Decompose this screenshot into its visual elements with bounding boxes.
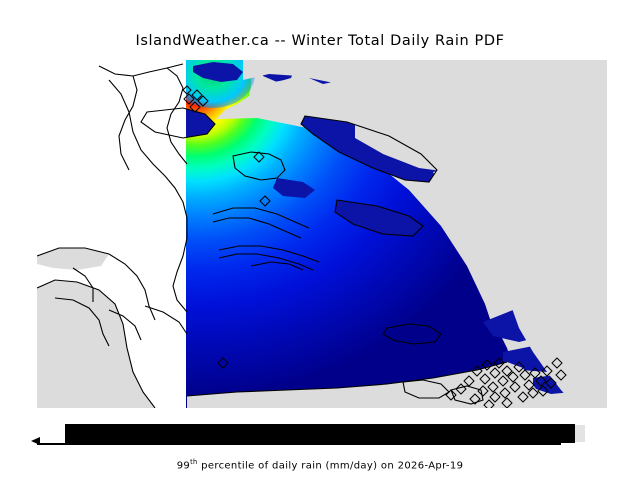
caption-percentile-suffix: th [190,458,197,466]
colorbar-caption: 99th percentile of daily rain (mm/day) o… [0,458,640,471]
rainfall-data-field [37,60,607,408]
map-canvas[interactable] [37,60,607,408]
caption-percentile-number: 99 [177,460,190,471]
caption-text: percentile of daily rain (mm/day) on 202… [198,460,464,471]
page-title: IslandWeather.ca -- Winter Total Daily R… [0,33,640,49]
colorbar[interactable] [37,424,607,446]
colorbar-axis-line [37,443,561,445]
weather-map-figure: IslandWeather.ca -- Winter Total Daily R… [0,0,640,480]
colorbar-overflow-swatch [575,425,585,442]
map-panel[interactable] [37,60,607,408]
colorbar-gradient[interactable] [65,424,575,443]
